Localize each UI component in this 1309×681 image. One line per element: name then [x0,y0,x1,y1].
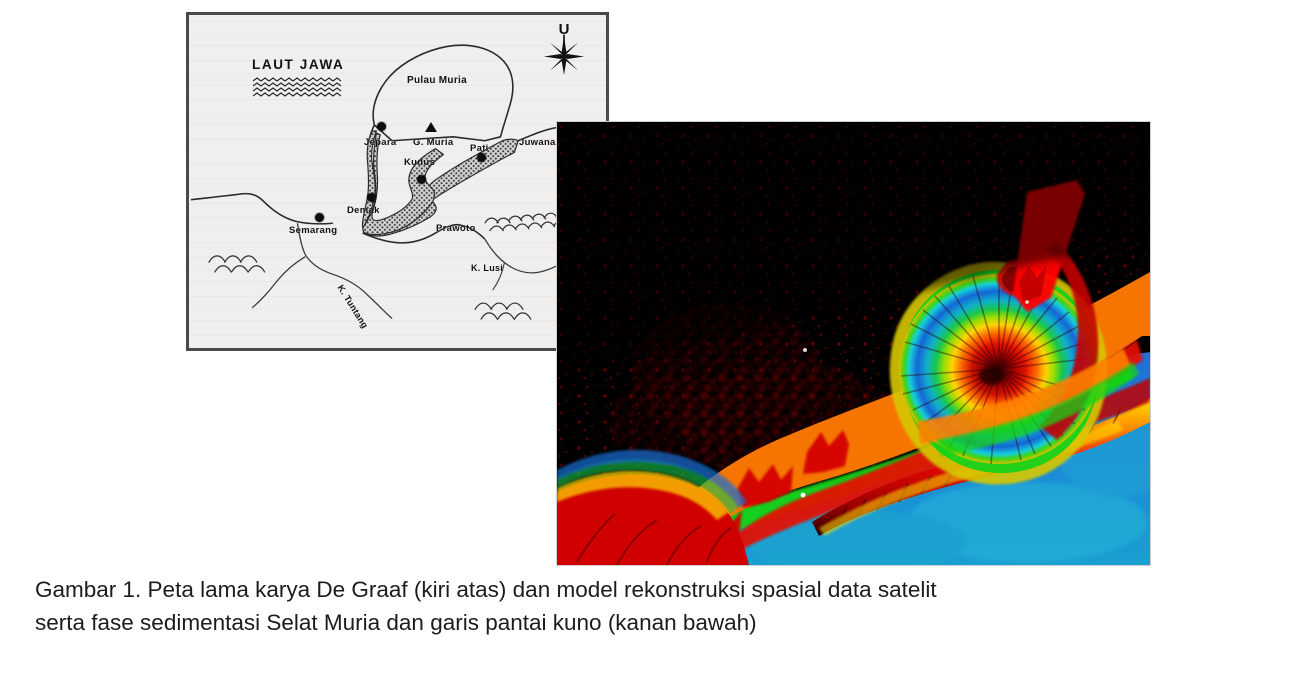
map-label-laut-jawa: LAUT JAWA [252,57,344,72]
sea-wave-hatch-icon [252,77,350,99]
map-label-juwana: Juwana [519,137,556,148]
map-point-g-muria-volcano-icon [425,122,437,132]
caption-line-1: Gambar 1. Peta lama karya De Graaf (kiri… [35,573,1275,606]
map-point-kudus [417,175,426,184]
satellite-dem-reconstruction [557,122,1150,565]
satellite-dem-canvas [557,122,1150,565]
map-label-k-lusi: K. Lusi [471,263,503,273]
compass-rose-icon: U [536,23,592,85]
map-point-jepara [377,122,386,131]
map-label-semarang: Semarang [289,225,337,236]
map-label-prawoto: Prawoto [436,223,476,234]
map-label-demak: Demak [347,205,380,216]
old-map-canvas: U LAUT JAWA Pulau [189,15,606,348]
map-label-g-muria: G. Muria [413,137,453,148]
old-map-de-graaf: U LAUT JAWA Pulau [186,12,609,351]
map-point-demak [367,193,376,202]
map-label-kudus: Kudus [404,157,435,168]
map-label-pulau-muria: Pulau Muria [407,75,467,86]
caption-line-2: serta fase sedimentasi Selat Muria dan g… [35,606,1275,639]
figure-caption: Gambar 1. Peta lama karya De Graaf (kiri… [35,573,1275,639]
map-label-jepara: Jepara [364,137,396,148]
map-point-pati [477,153,486,162]
marker-point [801,493,806,498]
figure-root: U LAUT JAWA Pulau [0,0,1309,681]
map-point-semarang [315,213,324,222]
